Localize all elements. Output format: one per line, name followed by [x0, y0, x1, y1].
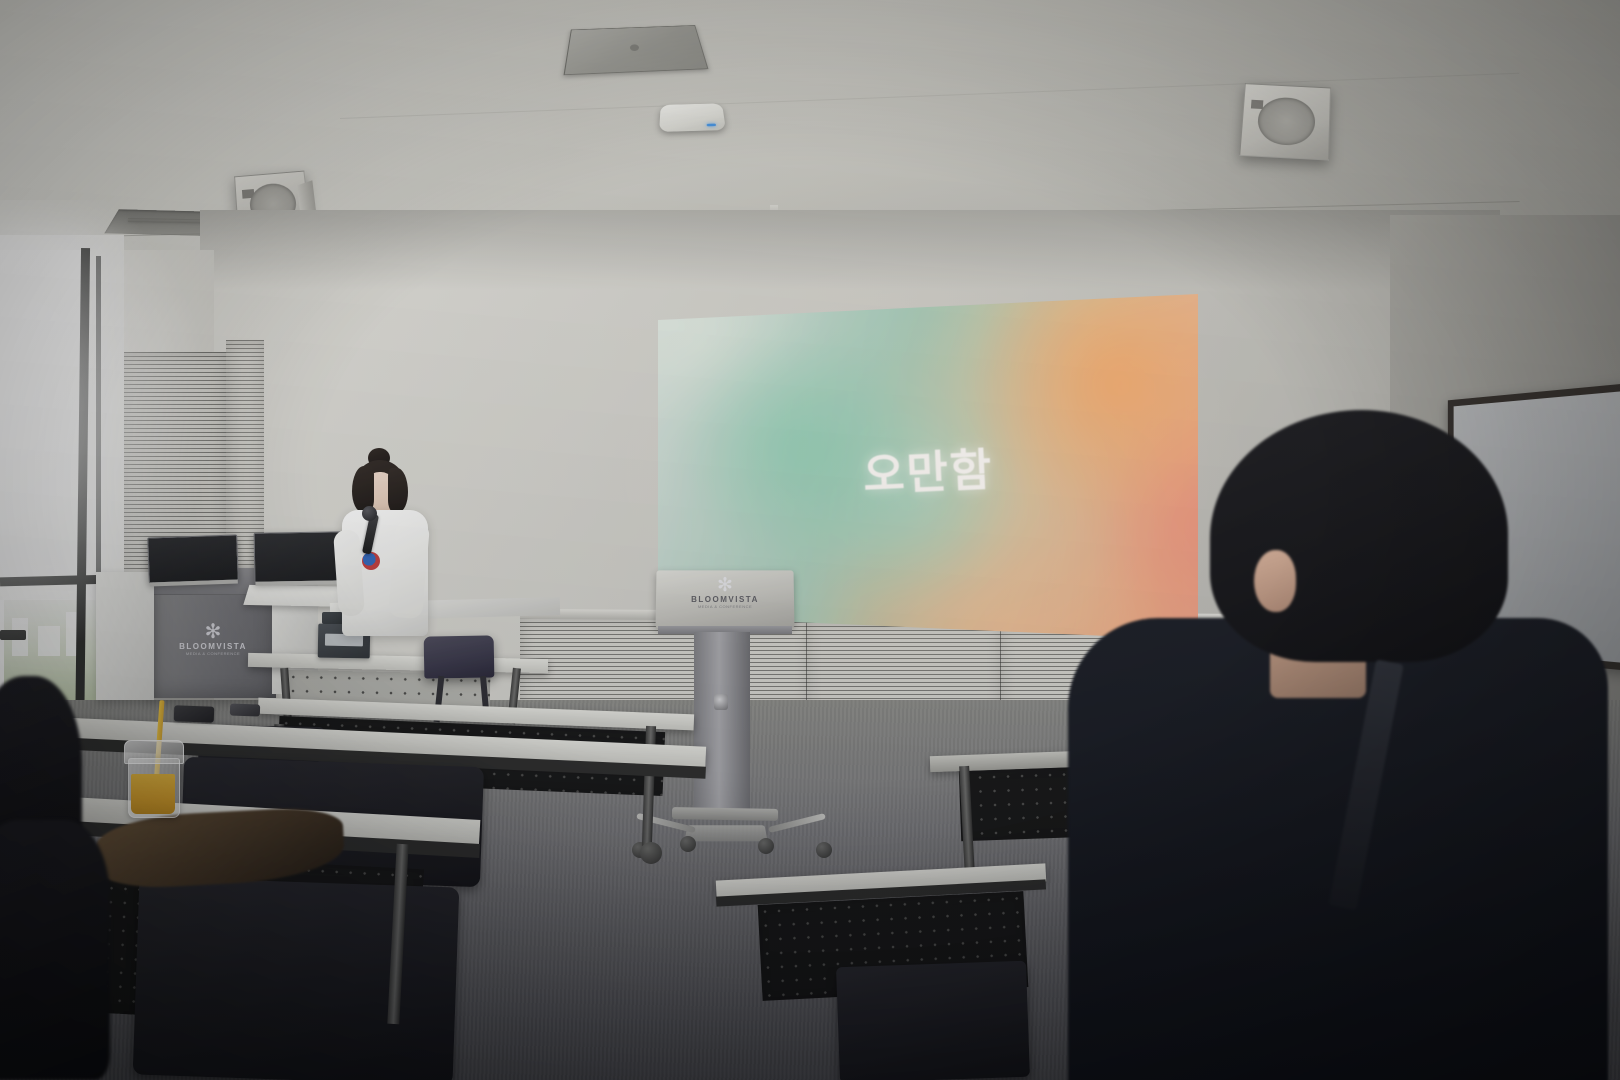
- confidence-monitor-left: [147, 534, 239, 583]
- speaker-grille-icon: [1257, 96, 1316, 147]
- chair-back-row: [424, 635, 495, 678]
- podium-brand-logo: ✻ BLOOMVISTA MEDIA & CONFERENCE: [666, 576, 784, 609]
- exterior-building: [38, 626, 60, 656]
- podium-column: [694, 632, 750, 810]
- brand-tagline: MEDIA & CONFERENCE: [666, 604, 784, 609]
- brand-wordmark: BLOOMVISTA: [164, 642, 262, 651]
- podium-base-bar: [672, 807, 778, 821]
- bloom-flower-icon: ✻: [164, 622, 262, 642]
- podium-latch-icon[interactable]: [714, 694, 728, 710]
- brand-wordmark: BLOOMVISTA: [666, 595, 784, 604]
- console-side-wing: [96, 572, 154, 700]
- window-pane-upper: [0, 250, 82, 580]
- window-handle-icon[interactable]: [0, 630, 26, 640]
- caster-wheel-icon: [680, 836, 696, 852]
- status-led-icon: [707, 124, 716, 127]
- attendee-hair: [1210, 410, 1508, 662]
- caster-wheel-icon: [640, 842, 662, 864]
- chair-foreground-lower: [133, 876, 460, 1080]
- beverage-cup[interactable]: [122, 716, 184, 820]
- podium-foot: [684, 825, 767, 841]
- ceiling-vent-grille: [564, 25, 709, 75]
- caster-wheel-icon: [758, 838, 774, 854]
- wall-top-shadow: [200, 210, 1500, 290]
- presenter-shirt-logo-icon: [362, 552, 380, 570]
- console-brand-logo: ✻ BLOOMVISTA MEDIA & CONFERENCE: [164, 622, 262, 656]
- attendee-ear: [1254, 550, 1296, 612]
- ceiling-speaker-right: [1239, 83, 1331, 160]
- microphone-head-icon: [362, 506, 377, 521]
- foreground-attendee: [1058, 404, 1618, 1080]
- presenter-hair-side: [352, 466, 374, 512]
- bloom-flower-icon: ✻: [666, 576, 784, 595]
- chair-right-front: [836, 961, 1030, 1080]
- lecture-hall-photo: 오만함 ✻ BLOOMVISTA MEDIA & CONFERENCE ✻ BL…: [0, 0, 1620, 1080]
- cup-contents: [131, 774, 175, 814]
- wifi-access-point-icon: [659, 103, 726, 132]
- left-attendee-body: [0, 820, 110, 1080]
- key-fob-on-desk[interactable]: [230, 703, 260, 716]
- caster-wheel-icon: [816, 842, 832, 858]
- presenter-hair-side: [388, 468, 408, 512]
